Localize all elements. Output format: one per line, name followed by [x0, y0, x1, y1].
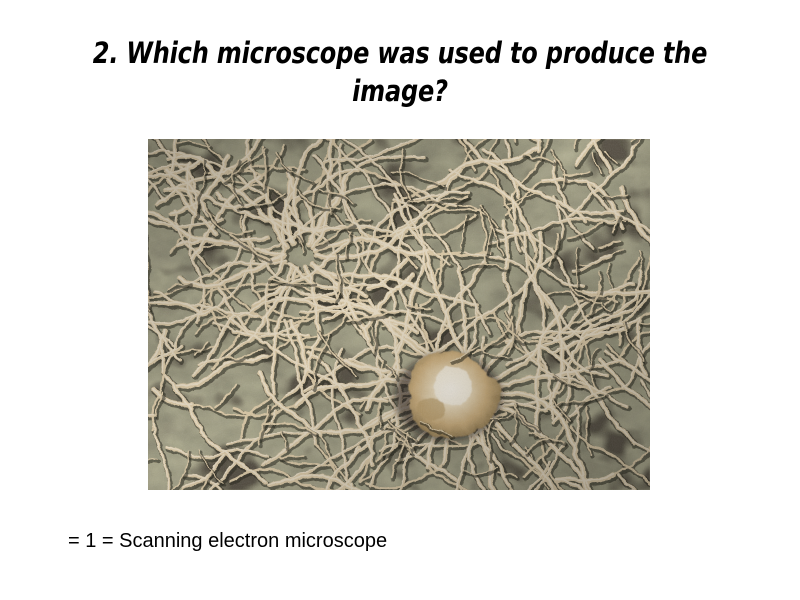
answer-text: = 1 = Scanning electron microscope: [68, 529, 387, 553]
title-line-2: image?: [58, 72, 742, 110]
vignette: [148, 139, 650, 490]
micrograph-canvas: [148, 139, 650, 490]
page-title: 2. Which microscope was used to produce …: [28, 34, 772, 110]
title-line-1: 2. Which microscope was used to produce …: [58, 34, 742, 72]
slide-canvas: 2. Which microscope was used to produce …: [0, 0, 800, 600]
sem-micrograph-image: [148, 139, 650, 490]
